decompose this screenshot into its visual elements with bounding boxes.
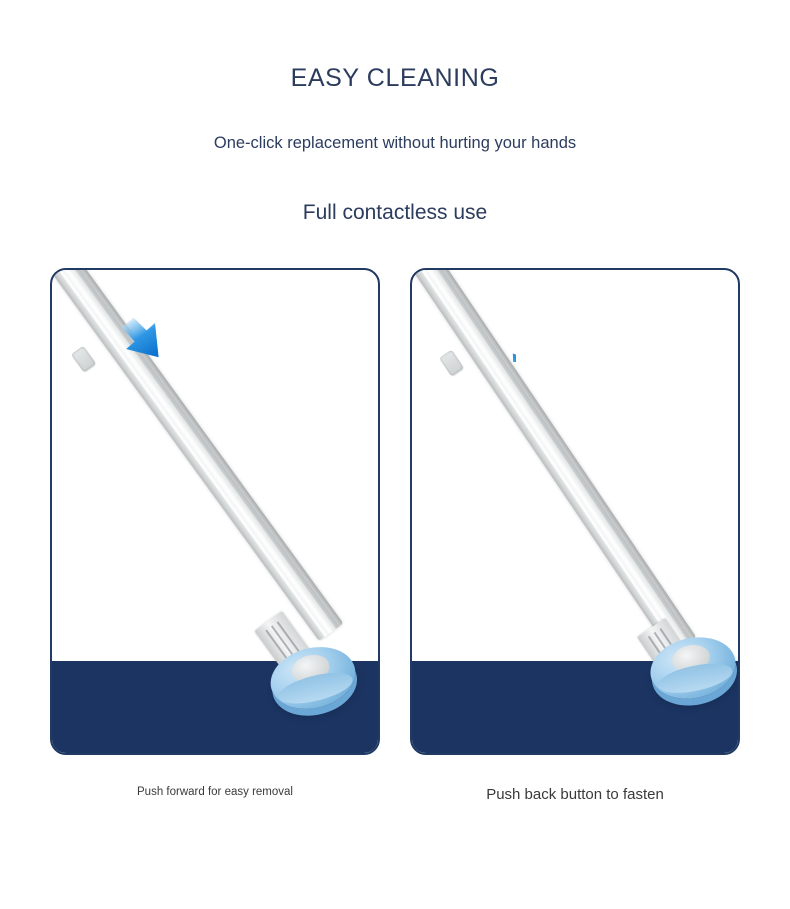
- arrow-up-left-icon: [446, 292, 516, 362]
- panel-fasten: Push back button to fasten: [410, 268, 740, 755]
- arrow-down-right-icon: [110, 306, 180, 376]
- mop-handle: [50, 268, 343, 641]
- illustration-card-fasten: [410, 268, 740, 755]
- page-section-heading: Full contactless use: [0, 152, 790, 223]
- page-subtitle: One-click replacement without hurting yo…: [0, 91, 790, 152]
- illustration-card-removal: [50, 268, 380, 755]
- release-button[interactable]: [71, 346, 96, 373]
- panel-caption-fasten: Push back button to fasten: [410, 786, 740, 804]
- panel-caption-removal: Push forward for easy removal: [50, 786, 380, 800]
- panel-row: Push forward for easy removal: [0, 268, 790, 828]
- page-title: EASY CLEANING: [0, 0, 790, 91]
- panel-removal: Push forward for easy removal: [50, 268, 380, 755]
- headings-block: EASY CLEANING One-click replacement with…: [0, 0, 790, 223]
